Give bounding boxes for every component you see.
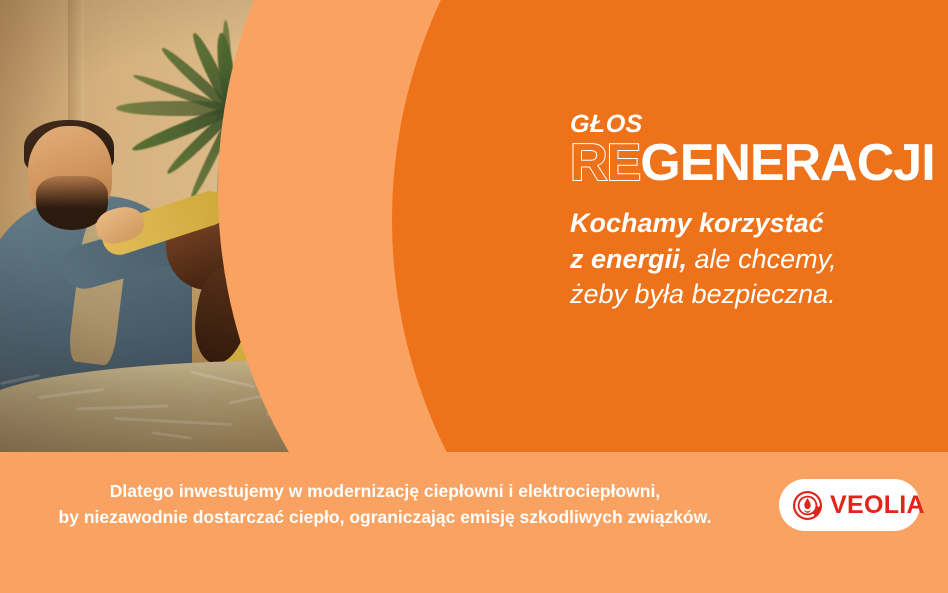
subheadline-line-3: żeby była bezpieczna.	[570, 277, 930, 313]
advertisement-banner: GŁOS REGENERACJI Kochamy korzystać z ene…	[0, 0, 948, 593]
subheadline-line-2-light: ale chcemy,	[687, 244, 837, 274]
footer-message-line-1: Dlatego inwestujemy w modernizację ciepł…	[14, 478, 756, 504]
campaign-title: REGENERACJI	[570, 139, 930, 188]
subheadline-line-3-light: żeby była bezpieczna.	[570, 279, 836, 309]
subheadline-line-1: Kochamy korzystać	[570, 206, 930, 242]
veolia-droplet-icon	[792, 490, 823, 521]
veolia-logo[interactable]: VEOLIA	[779, 479, 920, 531]
subheadline-line-2: z energii, ale chcemy,	[570, 242, 930, 278]
subheadline-line-2-bold: z energii,	[570, 244, 687, 274]
campaign-kicker: GŁOS	[570, 112, 931, 137]
headline-block: GŁOS REGENERACJI Kochamy korzystać z ene…	[570, 112, 930, 313]
campaign-title-rest: GENERACJI	[640, 134, 934, 192]
subheadline: Kochamy korzystać z energii, ale chcemy,…	[570, 206, 930, 313]
subheadline-line-1-bold: Kochamy korzystać	[570, 208, 824, 238]
veolia-wordmark: VEOLIA	[830, 493, 925, 518]
campaign-title-prefix: RE	[570, 134, 640, 192]
footer-message-line-2: by niezawodnie dostarczać ciepło, ograni…	[14, 504, 756, 530]
footer-message: Dlatego inwestujemy w modernizację ciepł…	[0, 478, 770, 531]
